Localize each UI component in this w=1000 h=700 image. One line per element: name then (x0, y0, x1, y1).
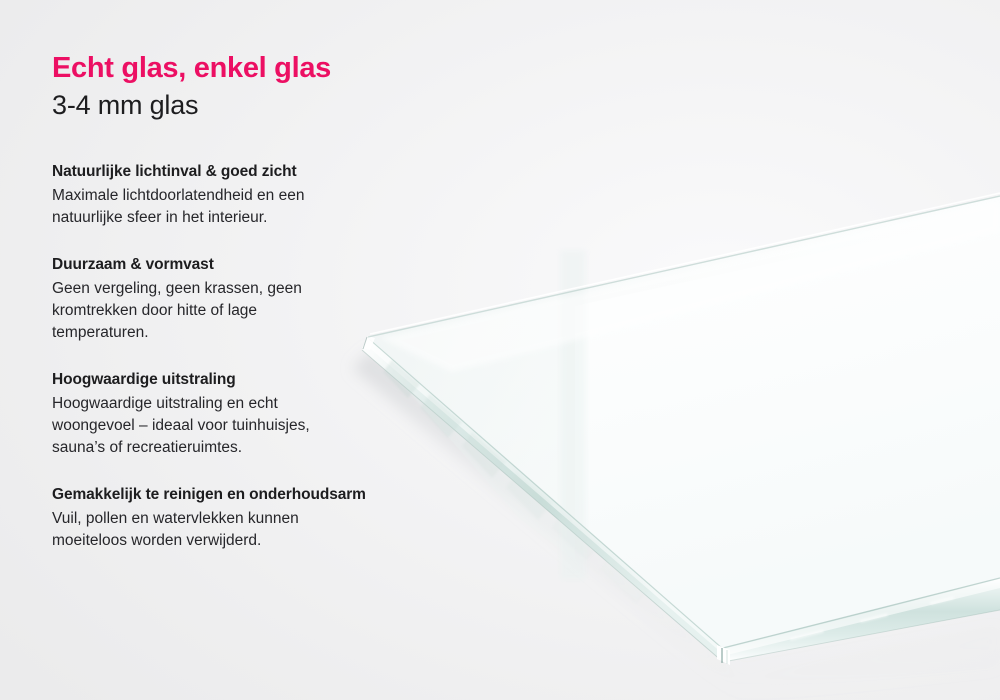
feature-body: Maximale lichtdoorlatendheid en een natu… (52, 185, 522, 229)
glass-edge-front-right (723, 578, 1000, 662)
feature-body: Vuil, pollen en watervlekken kunnen moei… (52, 508, 522, 552)
feature-item-uitstraling: Hoogwaardige uitstraling Hoogwaardige ui… (52, 370, 522, 459)
page-subtitle: 3-4 mm glas (52, 90, 522, 121)
feature-body: Geen vergeling, geen krassen, geen kromt… (52, 278, 322, 344)
feature-item-lichtinval: Natuurlijke lichtinval & goed zicht Maxi… (52, 162, 522, 229)
glass-corner-facet (717, 645, 730, 665)
feature-title: Hoogwaardige uitstraling (52, 370, 522, 390)
feature-item-duurzaam: Duurzaam & vormvast Geen vergeling, geen… (52, 255, 522, 344)
feature-title: Gemakkelijk te reinigen en onderhoudsarm (52, 485, 522, 505)
feature-body: Hoogwaardige uitstraling en echt woongev… (52, 393, 522, 459)
feature-title: Duurzaam & vormvast (52, 255, 522, 275)
feature-item-reinigen: Gemakkelijk te reinigen en onderhoudsarm… (52, 485, 522, 552)
feature-list: Natuurlijke lichtinval & goed zicht Maxi… (52, 162, 522, 553)
promo-banner: Echt glas, enkel glas 3-4 mm glas Natuur… (0, 0, 1000, 700)
page-title: Echt glas, enkel glas (52, 52, 522, 84)
feature-title: Natuurlijke lichtinval & goed zicht (52, 162, 522, 182)
content-column: Echt glas, enkel glas 3-4 mm glas Natuur… (52, 52, 522, 552)
